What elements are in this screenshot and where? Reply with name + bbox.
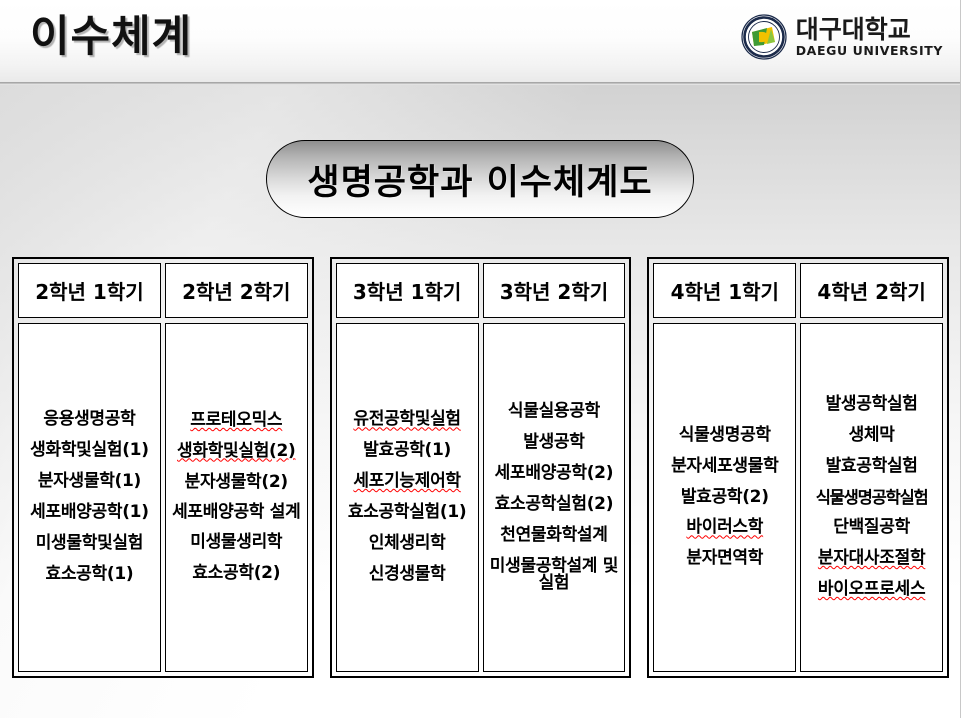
course-item: 생화학및실험(1) xyxy=(30,442,149,460)
course-item: 발효공학(1) xyxy=(363,442,451,460)
curriculum-banner-label: 생명공학과 이수체계도 xyxy=(307,154,652,205)
course-item: 바이러스학 xyxy=(686,519,763,537)
course-item: 세포기능제어학 xyxy=(353,473,460,491)
course-item: 생화학및실험(2) xyxy=(177,443,296,461)
course-item: 세포배양공학(1) xyxy=(30,504,149,522)
course-item: 미생물공학설계 및 실험 xyxy=(486,558,623,592)
semester-header-label: 2학년 2학기 xyxy=(182,276,290,305)
semester-column-1-2: 2학년 2학기프로테오믹스생화학및실험(2)분자생물학(2)세포배양공학 설계미… xyxy=(165,263,308,672)
semester-header: 3학년 2학기 xyxy=(483,263,626,318)
brand-name-english: DAEGU UNIVERSITY xyxy=(796,45,943,58)
semester-course-list: 식물실용공학발생공학세포배양공학(2)효소공학실험(2)천연물화학설계미생물공학… xyxy=(483,323,626,672)
semester-header-label: 3학년 2학기 xyxy=(500,276,608,305)
course-item: 효소공학(2) xyxy=(192,565,280,583)
slide-root: 이수체계 대구대학교 DAEGU UNIVERSITY xyxy=(0,0,961,718)
course-item: 미생물생리학 xyxy=(190,534,282,552)
course-item: 단백질공학 xyxy=(833,519,910,537)
header-bar: 이수체계 대구대학교 DAEGU UNIVERSITY xyxy=(0,0,961,84)
course-item: 식물생명공학 xyxy=(679,427,771,445)
course-item: 바이오프로세스 xyxy=(818,581,925,599)
semester-course-list: 발생공학실험생체막발효공학실험식물생명공학실험단백질공학분자대사조절학바이오프로… xyxy=(800,323,943,672)
course-item: 세포배양공학 설계 xyxy=(172,504,300,521)
page-title: 이수체계 xyxy=(30,8,192,66)
year-group-2: 3학년 1학기유전공학및실험발효공학(1)세포기능제어학효소공학실험(1)인체생… xyxy=(330,257,632,678)
semester-column-3-2: 4학년 2학기발생공학실험생체막발효공학실험식물생명공학실험단백질공학분자대사조… xyxy=(800,263,943,672)
course-item: 효소공학실험(1) xyxy=(348,504,467,522)
semester-column-1-1: 2학년 1학기응용생명공학생화학및실험(1)분자생물학(1)세포배양공학(1)미… xyxy=(18,263,161,672)
semester-column-2-1: 3학년 1학기유전공학및실험발효공학(1)세포기능제어학효소공학실험(1)인체생… xyxy=(336,263,479,672)
course-item: 분자면역학 xyxy=(686,550,763,568)
brand-text: 대구대학교 DAEGU UNIVERSITY xyxy=(796,17,943,58)
semester-header-label: 4학년 1학기 xyxy=(671,276,779,305)
daegu-university-emblem-icon xyxy=(741,14,787,60)
semester-column-3-1: 4학년 1학기식물생명공학분자세포생물학발효공학(2)바이러스학분자면역학 xyxy=(653,263,796,672)
semester-column-2-2: 3학년 2학기식물실용공학발생공학세포배양공학(2)효소공학실험(2)천연물화학… xyxy=(483,263,626,672)
course-item: 세포배양공학(2) xyxy=(495,465,614,483)
course-item: 식물실용공학 xyxy=(508,403,600,421)
semester-header-label: 3학년 1학기 xyxy=(353,276,461,305)
semester-header-label: 4학년 2학기 xyxy=(817,276,925,305)
course-item: 프로테오믹스 xyxy=(190,412,282,430)
year-group-3: 4학년 1학기식물생명공학분자세포생물학발효공학(2)바이러스학분자면역학4학년… xyxy=(647,257,949,678)
semester-course-list: 식물생명공학분자세포생물학발효공학(2)바이러스학분자면역학 xyxy=(653,323,796,672)
course-item: 분자대사조절학 xyxy=(818,550,925,568)
course-item: 발생공학실험 xyxy=(826,396,918,414)
semester-header: 4학년 2학기 xyxy=(800,263,943,318)
semester-header: 2학년 2학기 xyxy=(165,263,308,318)
course-item: 신경생물학 xyxy=(369,566,446,584)
course-item: 인체생리학 xyxy=(369,535,446,553)
semester-course-list: 응용생명공학생화학및실험(1)분자생물학(1)세포배양공학(1)미생물학및실험효… xyxy=(18,323,161,672)
course-item: 발효공학(2) xyxy=(681,489,769,507)
course-item: 분자생물학(2) xyxy=(185,474,288,492)
curriculum-groups: 2학년 1학기응용생명공학생화학및실험(1)분자생물학(1)세포배양공학(1)미… xyxy=(12,257,949,678)
course-item: 발생공학 xyxy=(523,434,584,452)
course-item: 효소공학실험(2) xyxy=(495,496,614,514)
course-item: 응용생명공학 xyxy=(43,411,135,429)
course-item: 분자세포생물학 xyxy=(671,458,778,476)
semester-header-label: 2학년 1학기 xyxy=(35,276,143,305)
year-group-1: 2학년 1학기응용생명공학생화학및실험(1)분자생물학(1)세포배양공학(1)미… xyxy=(12,257,314,678)
semester-course-list: 유전공학및실험발효공학(1)세포기능제어학효소공학실험(1)인체생리학신경생물학 xyxy=(336,323,479,672)
semester-course-list: 프로테오믹스생화학및실험(2)분자생물학(2)세포배양공학 설계미생물생리학효소… xyxy=(165,323,308,672)
course-item: 분자생물학(1) xyxy=(38,473,141,491)
course-item: 유전공학및실험 xyxy=(353,411,460,429)
course-item: 생체막 xyxy=(849,427,895,445)
course-item: 미생물학및실험 xyxy=(36,535,143,553)
university-brand: 대구대학교 DAEGU UNIVERSITY xyxy=(741,14,943,60)
semester-header: 4학년 1학기 xyxy=(653,263,796,318)
semester-header: 2학년 1학기 xyxy=(18,263,161,318)
brand-name-korean: 대구대학교 xyxy=(796,17,943,42)
course-item: 발효공학실험 xyxy=(826,458,918,476)
course-item: 식물생명공학실험 xyxy=(816,489,928,506)
course-item: 효소공학(1) xyxy=(46,566,134,584)
curriculum-banner: 생명공학과 이수체계도 xyxy=(266,140,694,218)
course-item: 천연물화학설계 xyxy=(500,527,607,545)
semester-header: 3학년 1학기 xyxy=(336,263,479,318)
